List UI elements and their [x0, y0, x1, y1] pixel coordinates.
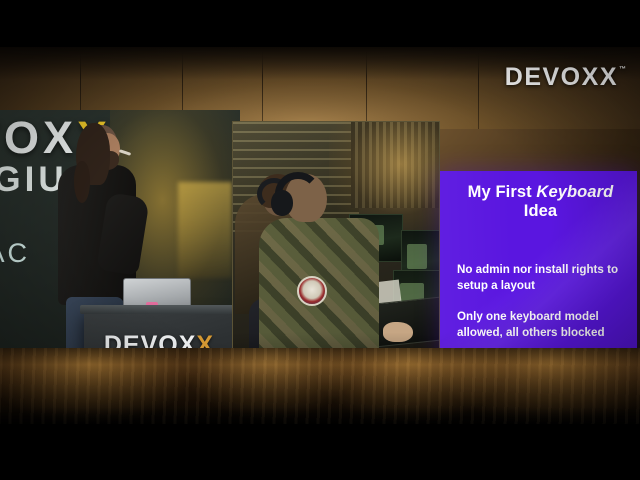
slide-title-part2: Idea: [524, 202, 557, 220]
stage-video: DEVOX X ™ VOXX LGIU RAC: [0, 47, 640, 424]
slide-body: No admin nor install rights to setup a l…: [457, 262, 627, 342]
floor-reflection: [0, 348, 640, 424]
backdrop-oracle-text: RAC: [0, 238, 30, 269]
photo-headset-earcup: [271, 190, 293, 216]
slide-bullet: Only one keyboard model allowed, all oth…: [457, 309, 627, 342]
backdrop-light-bar: [178, 182, 232, 278]
slide-bullet: No admin nor install rights to setup a l…: [457, 262, 627, 295]
devoxx-logo: DEVOX X ™: [505, 65, 626, 90]
speaker-headset-mic-icon: [119, 149, 131, 156]
devoxx-logo-trademark: ™: [619, 66, 626, 73]
video-frame: DEVOX X ™ VOXX LGIU RAC: [0, 0, 640, 480]
lectern-top-surface: [80, 305, 238, 314]
devoxx-logo-x-mark: X: [600, 65, 618, 90]
devoxx-logo-text: DEVOX: [505, 65, 600, 90]
letterbox-bottom: [0, 424, 640, 480]
letterbox-top: [0, 0, 640, 47]
slide-title-part1: My First: [468, 183, 537, 201]
photo-unit-badge: [297, 276, 327, 306]
slide-title: My First Keyboard Idea: [454, 183, 627, 221]
stage-floor: [0, 348, 640, 424]
slide-title-emphasis: Keyboard: [536, 183, 613, 201]
speaker-ponytail: [74, 161, 90, 203]
